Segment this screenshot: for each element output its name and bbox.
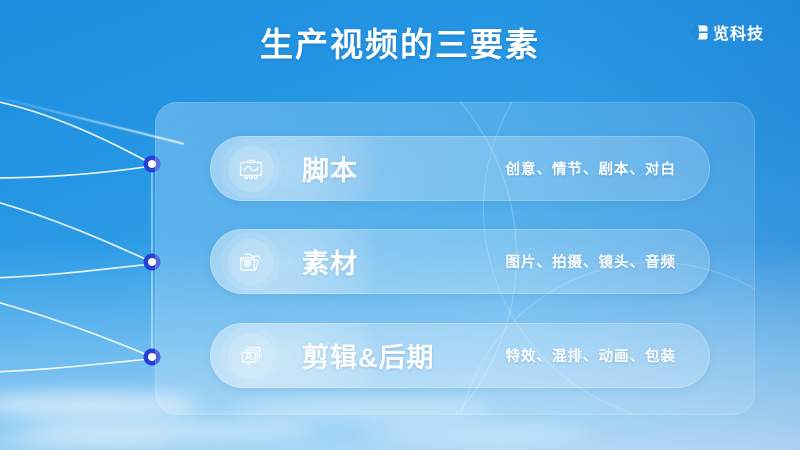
brand-name: 览科技 — [713, 20, 764, 44]
cloud-wisp — [360, 424, 590, 442]
script-board-icon — [228, 146, 274, 192]
layers-person-icon — [228, 333, 274, 379]
list-item-desc: 创意、情节、剧本、对白 — [506, 158, 677, 179]
list-item-title: 剪辑&后期 — [302, 336, 435, 375]
content-card: 脚本 创意、情节、剧本、对白 素材 图片、拍摄、镜头、音频 — [155, 102, 755, 415]
cloud-wisp — [0, 432, 170, 448]
element-list: 脚本 创意、情节、剧本、对白 素材 图片、拍摄、镜头、音频 — [155, 102, 755, 415]
book-mark-icon — [691, 25, 708, 40]
media-folder-icon — [228, 239, 274, 285]
list-item[interactable]: 剪辑&后期 特效、混排、动画、包装 — [210, 323, 710, 388]
list-item-desc: 特效、混排、动画、包装 — [506, 345, 677, 366]
slide-background: 生产视频的三要素 览科技 — [0, 0, 800, 450]
list-item[interactable]: 素材 图片、拍摄、镜头、音频 — [210, 229, 710, 294]
list-item[interactable]: 脚本 创意、情节、剧本、对白 — [210, 136, 710, 201]
list-item-title: 素材 — [302, 242, 358, 281]
brand-logo: 览科技 — [691, 20, 764, 44]
page-title: 生产视频的三要素 — [0, 18, 800, 66]
list-item-desc: 图片、拍摄、镜头、音频 — [506, 251, 677, 272]
list-item-title: 脚本 — [302, 149, 358, 188]
cloud-wisp — [20, 420, 320, 442]
